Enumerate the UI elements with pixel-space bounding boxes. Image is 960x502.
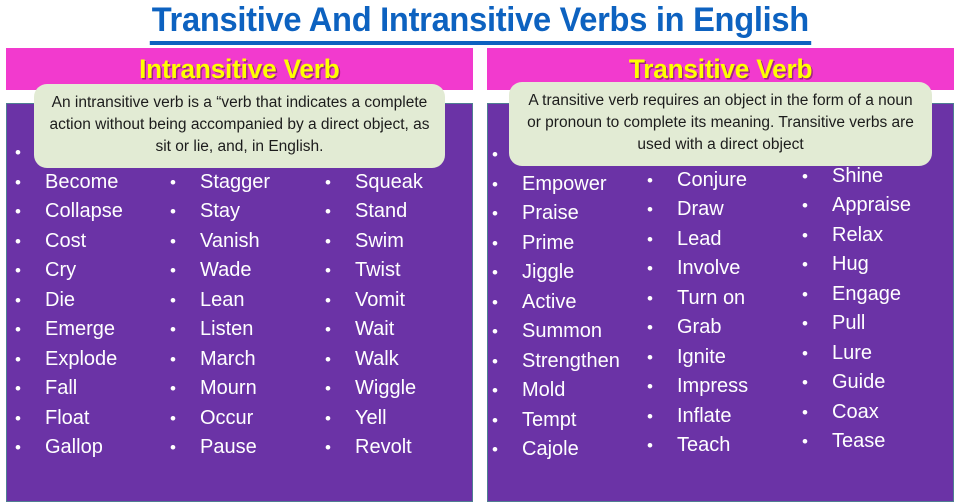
bullet-icon: •: [325, 374, 355, 404]
word-label: Cry: [45, 256, 76, 286]
word-label: Die: [45, 286, 75, 316]
word-list-item: •March: [170, 345, 317, 375]
word-label: Lead: [677, 225, 722, 255]
bullet-icon: •: [647, 402, 677, 432]
word-list-item: •Impress: [647, 372, 798, 402]
word-list-1: •Agree•Become•Collapse•Cost•Cry•Die•Emer…: [15, 138, 162, 463]
word-label: Wiggle: [355, 374, 416, 404]
word-list-item: •Jiggle: [492, 258, 643, 288]
word-label: Listen: [200, 315, 253, 345]
bullet-icon: •: [647, 254, 677, 284]
panels-container: Intransitive Verb •Agree•Become•Collapse…: [0, 48, 960, 502]
word-label: Impress: [677, 372, 748, 402]
word-label: Explode: [45, 345, 117, 375]
word-label: Active: [522, 288, 576, 318]
word-label: Inflate: [677, 402, 731, 432]
bullet-icon: •: [170, 315, 200, 345]
bullet-icon: •: [492, 317, 522, 347]
bullet-icon: •: [492, 288, 522, 318]
bullet-icon: •: [647, 313, 677, 343]
word-list-item: •Draw: [647, 195, 798, 225]
bullet-icon: •: [647, 225, 677, 255]
word-label: Vomit: [355, 286, 405, 316]
word-list-item: •Float: [15, 404, 162, 434]
word-column-2: •Sprint•Stagger•Stay•Vanish•Wade•Lean•Li…: [162, 132, 317, 501]
word-label: Mold: [522, 376, 565, 406]
word-list-item: •Cajole: [492, 435, 643, 465]
bullet-icon: •: [15, 345, 45, 375]
word-column-4: •Instill•Empower•Praise•Prime•Jiggle•Act…: [488, 132, 643, 501]
word-label: Squeak: [355, 168, 423, 198]
bullet-icon: •: [15, 315, 45, 345]
word-list-item: •Stand: [325, 197, 472, 227]
word-list-item: •Occur: [170, 404, 317, 434]
bullet-icon: •: [647, 166, 677, 196]
bullet-icon: •: [325, 227, 355, 257]
bullet-icon: •: [492, 199, 522, 229]
word-label: Become: [45, 168, 118, 198]
bullet-icon: •: [170, 256, 200, 286]
word-label: Wait: [355, 315, 394, 345]
word-list-item: •Wait: [325, 315, 472, 345]
bullet-icon: •: [647, 284, 677, 314]
bullet-icon: •: [170, 168, 200, 198]
word-label: Relax: [832, 221, 883, 251]
word-list-item: •Turn on: [647, 284, 798, 314]
word-label: Float: [45, 404, 89, 434]
word-column-6: •Succor•Shine•Appraise•Relax•Hug•Engage•…: [798, 132, 953, 501]
word-list-item: •Wiggle: [325, 374, 472, 404]
bullet-icon: •: [170, 345, 200, 375]
bullet-icon: •: [325, 345, 355, 375]
definition-text-intransitive: An intransitive verb is a “verb that ind…: [46, 92, 433, 158]
word-list-item: •Coax: [802, 398, 953, 428]
bullet-icon: •: [325, 404, 355, 434]
definition-text-transitive: A transitive verb requires an object in …: [521, 90, 920, 156]
bullet-icon: •: [647, 431, 677, 461]
word-label: Praise: [522, 199, 579, 229]
bullet-icon: •: [15, 286, 45, 316]
word-column-1: •Agree•Become•Collapse•Cost•Cry•Die•Emer…: [7, 132, 162, 501]
word-list-item: •Empower: [492, 170, 643, 200]
word-list-item: •Explode: [15, 345, 162, 375]
word-list-item: •Guide: [802, 368, 953, 398]
word-label: Hug: [832, 250, 869, 280]
bullet-icon: •: [325, 433, 355, 463]
bullet-icon: •: [15, 197, 45, 227]
word-label: Conjure: [677, 166, 747, 196]
word-label: Pause: [200, 433, 257, 463]
word-list-item: •Prime: [492, 229, 643, 259]
word-label: Tease: [832, 427, 885, 457]
word-list-item: •Yell: [325, 404, 472, 434]
bullet-icon: •: [802, 368, 832, 398]
word-label: Stay: [200, 197, 240, 227]
word-list-3: •Spit•Squeak•Stand•Swim•Twist•Vomit•Wait…: [325, 138, 472, 463]
word-label: Vanish: [200, 227, 260, 257]
word-list-item: •Inflate: [647, 402, 798, 432]
word-list-item: •Engage: [802, 280, 953, 310]
word-list-item: •Conjure: [647, 166, 798, 196]
word-list-item: •Pull: [802, 309, 953, 339]
bullet-icon: •: [15, 404, 45, 434]
panel-transitive: Transitive Verb •Instill•Empower•Praise•…: [487, 48, 954, 502]
word-list-item: •Active: [492, 288, 643, 318]
bullet-icon: •: [15, 227, 45, 257]
word-label: Stagger: [200, 168, 270, 198]
word-list-item: •Gallop: [15, 433, 162, 463]
bullet-icon: •: [15, 168, 45, 198]
word-list-item: •Emerge: [15, 315, 162, 345]
bullet-icon: •: [325, 197, 355, 227]
bullet-icon: •: [647, 372, 677, 402]
word-label: Gallop: [45, 433, 103, 463]
bullet-icon: •: [647, 343, 677, 373]
word-list-6: •Succor•Shine•Appraise•Relax•Hug•Engage•…: [802, 132, 953, 457]
word-label: Appraise: [832, 191, 911, 221]
word-list-item: •Pause: [170, 433, 317, 463]
word-label: Swim: [355, 227, 404, 257]
definition-box-transitive: A transitive verb requires an object in …: [509, 82, 932, 166]
bullet-icon: •: [170, 227, 200, 257]
word-list-item: •Collapse: [15, 197, 162, 227]
word-list-item: •Appraise: [802, 191, 953, 221]
bullet-icon: •: [325, 286, 355, 316]
word-list-item: •Involve: [647, 254, 798, 284]
word-list-item: •Vanish: [170, 227, 317, 257]
word-list-item: •Fall: [15, 374, 162, 404]
word-label: Emerge: [45, 315, 115, 345]
panel-intransitive: Intransitive Verb •Agree•Become•Collapse…: [6, 48, 473, 502]
word-label: Summon: [522, 317, 602, 347]
bullet-icon: •: [15, 256, 45, 286]
word-list-item: •Hug: [802, 250, 953, 280]
bullet-icon: •: [170, 374, 200, 404]
bullet-icon: •: [170, 433, 200, 463]
word-list-item: •Revolt: [325, 433, 472, 463]
bullet-icon: •: [492, 406, 522, 436]
bullet-icon: •: [802, 339, 832, 369]
word-list-item: •Walk: [325, 345, 472, 375]
word-label: Grab: [677, 313, 721, 343]
word-label: Tempt: [522, 406, 576, 436]
page-title-bar: Transitive And Intransitive Verbs in Eng…: [0, 0, 960, 48]
word-label: Collapse: [45, 197, 123, 227]
word-list-item: •Stagger: [170, 168, 317, 198]
word-list-item: •Teach: [647, 431, 798, 461]
bullet-icon: •: [492, 435, 522, 465]
bullet-icon: •: [647, 195, 677, 225]
word-label: Turn on: [677, 284, 745, 314]
word-list-item: •Mold: [492, 376, 643, 406]
word-list-item: •Squeak: [325, 168, 472, 198]
word-list-item: •Mourn: [170, 374, 317, 404]
bullet-icon: •: [170, 197, 200, 227]
word-list-item: •Summon: [492, 317, 643, 347]
bullet-icon: •: [325, 168, 355, 198]
word-list-item: •Grab: [647, 313, 798, 343]
word-label: Occur: [200, 404, 253, 434]
word-label: Coax: [832, 398, 879, 428]
word-label: Engage: [832, 280, 901, 310]
word-list-item: •Swim: [325, 227, 472, 257]
word-label: Prime: [522, 229, 574, 259]
word-list-item: •Vomit: [325, 286, 472, 316]
word-list-item: •Stay: [170, 197, 317, 227]
word-label: Stand: [355, 197, 407, 227]
word-label: Yell: [355, 404, 387, 434]
word-label: Lure: [832, 339, 872, 369]
bullet-icon: •: [170, 286, 200, 316]
bullet-icon: •: [802, 398, 832, 428]
word-list-2: •Sprint•Stagger•Stay•Vanish•Wade•Lean•Li…: [170, 138, 317, 463]
bullet-icon: •: [492, 258, 522, 288]
word-label: Strengthen: [522, 347, 620, 377]
panel-header-label-transitive: Transitive Verb: [629, 54, 812, 85]
bullet-icon: •: [492, 347, 522, 377]
word-label: Cajole: [522, 435, 579, 465]
word-label: Twist: [355, 256, 401, 286]
word-column-3: •Spit•Squeak•Stand•Swim•Twist•Vomit•Wait…: [317, 132, 472, 501]
word-label: Cost: [45, 227, 86, 257]
word-list-item: •Ignite: [647, 343, 798, 373]
bullet-icon: •: [492, 229, 522, 259]
word-list-item: •Become: [15, 168, 162, 198]
word-list-item: •Relax: [802, 221, 953, 251]
word-list-item: •Listen: [170, 315, 317, 345]
word-list-item: •Tease: [802, 427, 953, 457]
word-list-item: •Cost: [15, 227, 162, 257]
word-label: Guide: [832, 368, 885, 398]
word-label: Ignite: [677, 343, 726, 373]
bullet-icon: •: [325, 256, 355, 286]
word-list-item: •Wade: [170, 256, 317, 286]
bullet-icon: •: [802, 191, 832, 221]
word-list-item: •Tempt: [492, 406, 643, 436]
word-label: Teach: [677, 431, 730, 461]
word-label: Lean: [200, 286, 245, 316]
word-label: Walk: [355, 345, 399, 375]
word-list-4: •Instill•Empower•Praise•Prime•Jiggle•Act…: [492, 140, 643, 465]
page-title: Transitive And Intransitive Verbs in Eng…: [149, 0, 810, 45]
bullet-icon: •: [802, 250, 832, 280]
word-label: Jiggle: [522, 258, 574, 288]
word-list-item: •Lure: [802, 339, 953, 369]
word-label: Pull: [832, 309, 865, 339]
word-list-item: •Praise: [492, 199, 643, 229]
word-label: Mourn: [200, 374, 257, 404]
bullet-icon: •: [325, 315, 355, 345]
bullet-icon: •: [802, 309, 832, 339]
word-label: Empower: [522, 170, 606, 200]
word-label: March: [200, 345, 256, 375]
word-label: Wade: [200, 256, 252, 286]
bullet-icon: •: [15, 374, 45, 404]
bullet-icon: •: [170, 404, 200, 434]
bullet-icon: •: [802, 280, 832, 310]
word-list-5: •Foster•Conjure•Draw•Lead•Involve•Turn o…: [647, 136, 798, 461]
word-label: Draw: [677, 195, 724, 225]
bullet-icon: •: [492, 170, 522, 200]
word-list-item: •Cry: [15, 256, 162, 286]
word-label: Involve: [677, 254, 740, 284]
bullet-icon: •: [802, 221, 832, 251]
word-list-item: •Lead: [647, 225, 798, 255]
word-list-item: •Strengthen: [492, 347, 643, 377]
word-column-5: •Foster•Conjure•Draw•Lead•Involve•Turn o…: [643, 132, 798, 501]
bullet-icon: •: [492, 376, 522, 406]
word-label: Revolt: [355, 433, 412, 463]
word-list-item: •Die: [15, 286, 162, 316]
bullet-icon: •: [802, 427, 832, 457]
definition-box-intransitive: An intransitive verb is a “verb that ind…: [34, 84, 445, 168]
word-label: Fall: [45, 374, 77, 404]
panel-header-label-intransitive: Intransitive Verb: [139, 54, 339, 85]
word-list-item: •Twist: [325, 256, 472, 286]
bullet-icon: •: [15, 433, 45, 463]
word-list-item: •Lean: [170, 286, 317, 316]
